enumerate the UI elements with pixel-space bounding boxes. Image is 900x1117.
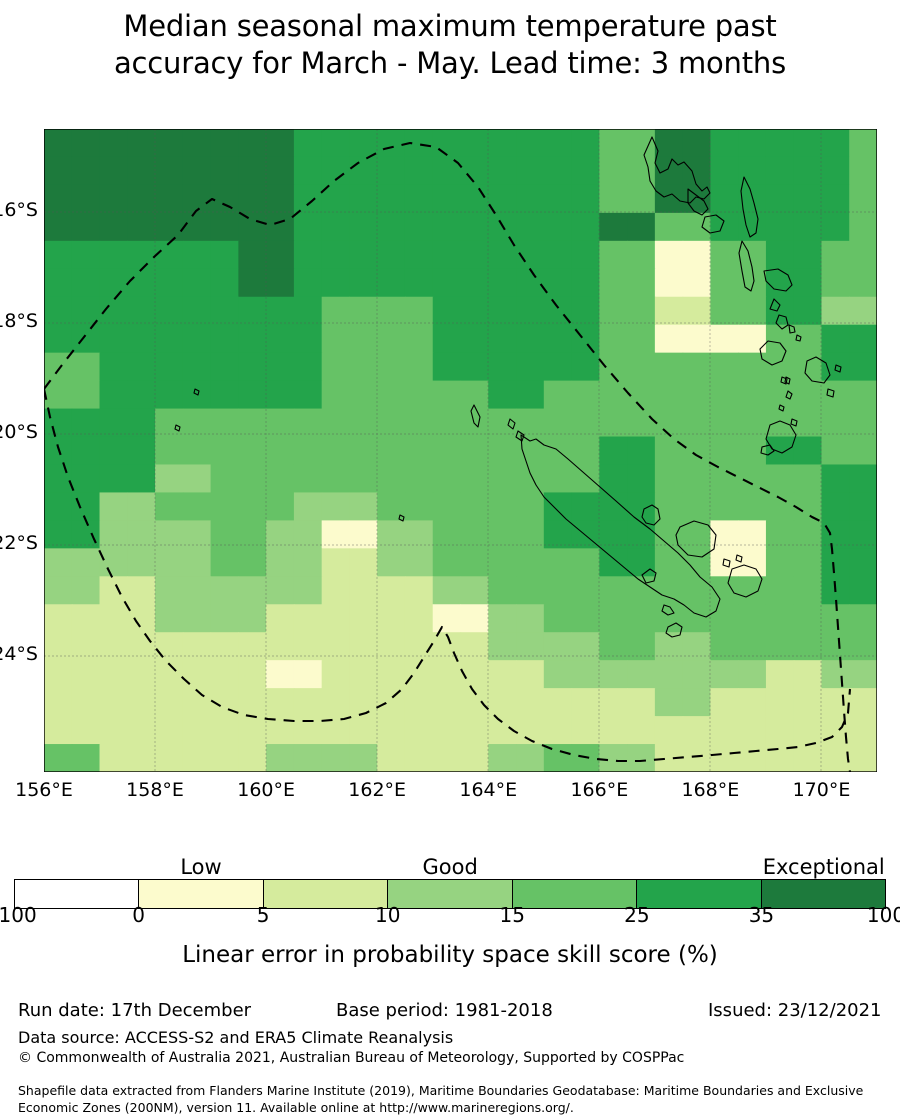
heatmap-cell	[433, 660, 461, 689]
heatmap-cell	[266, 297, 294, 326]
heatmap-cell	[349, 716, 377, 745]
heatmap-cell	[794, 269, 822, 298]
heatmap-cell	[183, 409, 211, 438]
heatmap-cell	[211, 716, 239, 745]
heatmap-cell	[849, 185, 877, 214]
heatmap-cell	[710, 604, 738, 633]
heatmap-cell	[72, 269, 100, 298]
heatmap-cell	[821, 269, 849, 298]
heatmap-cell	[72, 604, 100, 633]
heatmap-cell	[738, 157, 766, 186]
heatmap-cell	[544, 241, 572, 270]
heatmap-cell	[377, 157, 405, 186]
heatmap-cell	[294, 213, 322, 242]
heatmap-cell	[377, 604, 405, 633]
colorbar-tick-label: 5	[213, 903, 313, 927]
heatmap-cell	[710, 660, 738, 689]
heatmap-cell	[377, 353, 405, 382]
heatmap-cell	[849, 241, 877, 270]
heatmap-cell	[349, 632, 377, 661]
heatmap-cell	[183, 325, 211, 354]
heatmap-cell	[349, 381, 377, 410]
heatmap-cell	[238, 437, 266, 466]
heatmap-cell	[655, 548, 683, 577]
heatmap-cell	[405, 297, 433, 326]
heatmap-cell	[405, 492, 433, 521]
heatmap-cell	[461, 548, 489, 577]
heatmap-cell	[377, 576, 405, 605]
heatmap-cell	[821, 437, 849, 466]
heatmap-cell	[127, 464, 155, 493]
heatmap-cell	[44, 185, 72, 214]
heatmap-cell	[738, 437, 766, 466]
heatmap-cell	[211, 464, 239, 493]
heatmap-cell	[405, 716, 433, 745]
heatmap-cell	[544, 157, 572, 186]
heatmap-cell	[405, 464, 433, 493]
heatmap-cell	[516, 604, 544, 633]
heatmap-cell	[44, 576, 72, 605]
heatmap-cell	[572, 716, 600, 745]
heatmap-cell	[433, 381, 461, 410]
heatmap-cell	[627, 269, 655, 298]
heatmap-cell	[710, 241, 738, 270]
heatmap-cell	[849, 492, 877, 521]
heatmap-cell	[294, 492, 322, 521]
heatmap-cell	[461, 604, 489, 633]
colorbar-tick-label: 0	[89, 903, 189, 927]
heatmap-cell	[572, 157, 600, 186]
heatmap-cell	[322, 660, 350, 689]
heatmap-cell	[211, 129, 239, 158]
heatmap-cell	[238, 464, 266, 493]
heatmap-cell	[766, 660, 794, 689]
heatmap-cell	[322, 325, 350, 354]
heatmap-cell	[766, 157, 794, 186]
heatmap-cell	[572, 185, 600, 214]
heatmap-cell	[211, 632, 239, 661]
heatmap-cell	[461, 297, 489, 326]
heatmap-cell	[183, 548, 211, 577]
heatmap-cell	[544, 381, 572, 410]
heatmap-cell	[266, 325, 294, 354]
heatmap-cell	[433, 548, 461, 577]
heatmap-cell	[488, 548, 516, 577]
heatmap-cell	[627, 213, 655, 242]
heatmap-cell	[572, 576, 600, 605]
heatmap-cell	[488, 632, 516, 661]
heatmap-cell	[849, 129, 877, 158]
heatmap-cell	[44, 744, 72, 772]
heatmap-cell	[238, 660, 266, 689]
heatmap-cell	[461, 157, 489, 186]
heatmap-cell	[183, 688, 211, 717]
heatmap-cell	[461, 492, 489, 521]
heatmap-cell	[738, 381, 766, 410]
heatmap-cell	[766, 688, 794, 717]
heatmap-cell	[100, 688, 128, 717]
heatmap-cell	[322, 437, 350, 466]
heatmap-cell	[44, 241, 72, 270]
heatmap-cell	[821, 213, 849, 242]
heatmap-cell	[488, 241, 516, 270]
heatmap-cell	[655, 241, 683, 270]
heatmap-cell	[599, 464, 627, 493]
heatmap-cell	[322, 381, 350, 410]
heatmap-cell	[627, 241, 655, 270]
heatmap-cell	[516, 297, 544, 326]
heatmap-cell	[211, 744, 239, 772]
heatmap-cell	[349, 660, 377, 689]
heatmap-cell	[266, 353, 294, 382]
heatmap-cell	[710, 213, 738, 242]
heatmap-cell	[44, 632, 72, 661]
heatmap-cell	[127, 632, 155, 661]
heatmap-cell	[627, 381, 655, 410]
heatmap-cell	[683, 353, 711, 382]
heatmap-cell	[544, 464, 572, 493]
heatmap-cell	[738, 409, 766, 438]
heatmap-cell	[710, 632, 738, 661]
heatmap-cell	[183, 576, 211, 605]
heatmap-svg	[44, 129, 877, 772]
heatmap-cell	[322, 464, 350, 493]
heatmap-cell	[544, 353, 572, 382]
issued-date: Issued: 23/12/2021	[708, 1000, 882, 1021]
heatmap-cell	[100, 576, 128, 605]
heatmap-cell	[849, 660, 877, 689]
heatmap-cell	[488, 437, 516, 466]
heatmap-cell	[599, 632, 627, 661]
heatmap-cell	[44, 157, 72, 186]
heatmap-cell	[516, 576, 544, 605]
heatmap-cell	[738, 632, 766, 661]
heatmap-cell	[377, 548, 405, 577]
heatmap-cell	[183, 604, 211, 633]
heatmap-cell	[599, 576, 627, 605]
heatmap-cell	[627, 660, 655, 689]
heatmap-cell	[433, 297, 461, 326]
heatmap-cell	[683, 492, 711, 521]
heatmap-cell	[794, 604, 822, 633]
heatmap-cell	[572, 688, 600, 717]
heatmap-cell	[794, 464, 822, 493]
heatmap-cell	[72, 353, 100, 382]
heatmap-cell	[683, 409, 711, 438]
longitude-tick-label: 166°E	[539, 779, 659, 801]
heatmap-cell	[433, 213, 461, 242]
heatmap-cell	[544, 325, 572, 354]
heatmap-cell	[211, 241, 239, 270]
heatmap-cell	[405, 409, 433, 438]
heatmap-cell	[433, 716, 461, 745]
heatmap-cell	[266, 548, 294, 577]
heatmap-cell	[266, 464, 294, 493]
heatmap-cell	[627, 325, 655, 354]
heatmap-cell	[683, 688, 711, 717]
heatmap-cell	[155, 185, 183, 214]
heatmap-cell	[461, 576, 489, 605]
heatmap-cell	[183, 241, 211, 270]
heatmap-cell	[72, 185, 100, 214]
heatmap-cell	[322, 241, 350, 270]
heatmap-cell	[766, 632, 794, 661]
heatmap-cell	[710, 492, 738, 521]
heatmap-cell	[183, 744, 211, 772]
run-date: Run date: 17th December	[18, 1000, 251, 1021]
heatmap-cell	[433, 241, 461, 270]
colorbar-tick-label: 100	[836, 903, 900, 927]
heatmap-cell	[322, 157, 350, 186]
heatmap-cell	[322, 548, 350, 577]
heatmap-cell	[821, 688, 849, 717]
heatmap-cell	[461, 716, 489, 745]
heatmap-cell	[377, 325, 405, 354]
heatmap-cell	[405, 688, 433, 717]
heatmap-cell	[599, 129, 627, 158]
heatmap-cell	[599, 660, 627, 689]
heatmap-cell	[100, 129, 128, 158]
heatmap-cell	[738, 353, 766, 382]
heatmap-cell	[821, 157, 849, 186]
heatmap-cell	[655, 353, 683, 382]
heatmap-cell	[544, 716, 572, 745]
heatmap-cell	[710, 688, 738, 717]
heatmap-cell	[738, 213, 766, 242]
heatmap-cell	[488, 660, 516, 689]
heatmap-cell	[655, 688, 683, 717]
heatmap-cell	[322, 269, 350, 298]
heatmap-cell	[349, 157, 377, 186]
heatmap-cell	[155, 297, 183, 326]
heatmap-cell	[44, 297, 72, 326]
heatmap-cell	[710, 381, 738, 410]
heatmap-cell	[794, 660, 822, 689]
heatmap-cell	[266, 604, 294, 633]
heatmap-cell	[294, 660, 322, 689]
heatmap-cell	[155, 129, 183, 158]
heatmap-cell	[294, 632, 322, 661]
heatmap-cell	[572, 660, 600, 689]
heatmap-cell	[211, 660, 239, 689]
heatmap-cell	[821, 381, 849, 410]
heatmap-cell	[572, 353, 600, 382]
heatmap-cell	[266, 744, 294, 772]
heatmap-cell	[849, 437, 877, 466]
heatmap-cell	[655, 576, 683, 605]
heatmap-cell	[405, 213, 433, 242]
heatmap-cell	[211, 381, 239, 410]
heatmap-cell	[266, 185, 294, 214]
heatmap-cell	[683, 437, 711, 466]
heatmap-cell	[238, 325, 266, 354]
heatmap-cell	[211, 269, 239, 298]
heatmap-cell	[544, 604, 572, 633]
heatmap-cell	[849, 353, 877, 382]
latitude-tick-label: 24°S	[0, 643, 38, 665]
heatmap-cell	[655, 604, 683, 633]
heatmap-cell	[238, 716, 266, 745]
heatmap-cell	[127, 213, 155, 242]
heatmap-cell	[266, 437, 294, 466]
heatmap-cell	[183, 660, 211, 689]
heatmap-cell	[433, 744, 461, 772]
heatmap-cell	[72, 576, 100, 605]
heatmap-cell	[44, 213, 72, 242]
heatmap-cell	[377, 381, 405, 410]
heatmap-cell	[599, 744, 627, 772]
heatmap-cell	[44, 129, 72, 158]
heatmap-cell	[821, 241, 849, 270]
heatmap-cell	[849, 604, 877, 633]
heatmap-cell	[516, 381, 544, 410]
heatmap-cell	[127, 688, 155, 717]
heatmap-cell	[488, 688, 516, 717]
heatmap-cell	[127, 241, 155, 270]
colorbar-quality-label: Exceptional	[763, 855, 885, 879]
heatmap-cell	[433, 464, 461, 493]
heatmap-cell	[183, 269, 211, 298]
heatmap-cell	[294, 548, 322, 577]
heatmap-cell	[211, 604, 239, 633]
heatmap-cell	[266, 632, 294, 661]
heatmap-cell	[599, 716, 627, 745]
heatmap-cell	[516, 492, 544, 521]
heatmap-cell	[100, 437, 128, 466]
heatmap-cell	[794, 381, 822, 410]
heatmap-cell	[72, 241, 100, 270]
heatmap-cell	[377, 241, 405, 270]
heatmap-cell	[766, 576, 794, 605]
heatmap-cell	[461, 437, 489, 466]
heatmap-cell	[72, 437, 100, 466]
heatmap-cell	[44, 548, 72, 577]
heatmap-cell	[849, 409, 877, 438]
heatmap-cell	[266, 241, 294, 270]
heatmap-cell	[488, 409, 516, 438]
heatmap-cell	[211, 157, 239, 186]
heatmap-cell	[821, 548, 849, 577]
heatmap-cell	[100, 213, 128, 242]
heatmap-cell	[683, 129, 711, 158]
heatmap-cell	[100, 744, 128, 772]
heatmap-cell	[183, 213, 211, 242]
longitude-tick-label: 158°E	[95, 779, 215, 801]
heatmap-cell	[127, 437, 155, 466]
heatmap-cell	[405, 353, 433, 382]
heatmap-cell	[794, 632, 822, 661]
longitude-tick-label: 160°E	[206, 779, 326, 801]
heatmap-cell	[294, 297, 322, 326]
heatmap-cell	[322, 409, 350, 438]
heatmap-cell	[488, 604, 516, 633]
heatmap-cell	[544, 632, 572, 661]
heatmap-cell	[544, 213, 572, 242]
heatmap-cell	[322, 213, 350, 242]
heatmap-cell	[322, 688, 350, 717]
heatmap-cell	[544, 129, 572, 158]
heatmap-cell	[821, 185, 849, 214]
heatmap-cell	[849, 464, 877, 493]
heatmap-cell	[377, 744, 405, 772]
heatmap-cell	[127, 381, 155, 410]
heatmap-cell	[294, 157, 322, 186]
heatmap-cell	[683, 716, 711, 745]
heatmap-cell	[405, 632, 433, 661]
heatmap-cell	[322, 632, 350, 661]
heatmap-cell	[849, 576, 877, 605]
heatmap-cell	[211, 437, 239, 466]
heatmap-cell	[516, 632, 544, 661]
heatmap-cell	[349, 185, 377, 214]
heatmap-cell	[238, 492, 266, 521]
heatmap-cell	[238, 548, 266, 577]
heatmap-cell	[377, 437, 405, 466]
heatmap-cell	[710, 437, 738, 466]
heatmap-cell	[433, 688, 461, 717]
heatmap-cell	[44, 464, 72, 493]
heatmap-cell	[127, 548, 155, 577]
colorbar-axis-label: Linear error in probability space skill …	[0, 942, 900, 968]
heatmap-cell	[266, 688, 294, 717]
heatmap-cell	[710, 353, 738, 382]
heatmap-cell	[266, 660, 294, 689]
heatmap-cell	[100, 716, 128, 745]
heatmap-cell	[100, 492, 128, 521]
heatmap-cell	[433, 185, 461, 214]
colorbar-quality-label: Good	[423, 855, 478, 879]
heatmap-cell	[794, 213, 822, 242]
heatmap-cell	[349, 409, 377, 438]
heatmap-cell	[544, 548, 572, 577]
heatmap-cell	[72, 213, 100, 242]
footer-meta-row: Run date: 17th December Base period: 198…	[18, 1000, 898, 1026]
heatmap-cell	[377, 269, 405, 298]
heatmap-cell	[266, 157, 294, 186]
heatmap-cell	[155, 716, 183, 745]
heatmap-cell	[72, 744, 100, 772]
title-line-2: accuracy for March - May. Lead time: 3 m…	[0, 45, 900, 82]
heatmap-cell	[349, 744, 377, 772]
heatmap-cell	[72, 381, 100, 410]
heatmap-cell	[599, 409, 627, 438]
heatmap-cell	[766, 716, 794, 745]
heatmap-cell	[294, 744, 322, 772]
longitude-tick-label: 170°E	[761, 779, 881, 801]
heatmap-cell	[655, 437, 683, 466]
heatmap-cell	[100, 241, 128, 270]
heatmap-cell	[655, 269, 683, 298]
heatmap-cell	[211, 297, 239, 326]
heatmap-cell	[127, 269, 155, 298]
heatmap-cell	[322, 129, 350, 158]
heatmap-cell	[599, 688, 627, 717]
heatmap-cell	[238, 157, 266, 186]
heatmap-cell	[488, 297, 516, 326]
heatmap-cell	[738, 548, 766, 577]
page-title: Median seasonal maximum temperature past…	[0, 8, 900, 82]
heatmap-cell	[766, 604, 794, 633]
heatmap-cell	[155, 269, 183, 298]
heatmap-cell	[183, 297, 211, 326]
heatmap-cell	[516, 548, 544, 577]
heatmap-cell	[405, 269, 433, 298]
heatmap-cell	[127, 325, 155, 354]
heatmap-cell	[627, 688, 655, 717]
heatmap-cell	[821, 744, 849, 772]
heatmap-cell	[155, 492, 183, 521]
heatmap-cell	[155, 464, 183, 493]
